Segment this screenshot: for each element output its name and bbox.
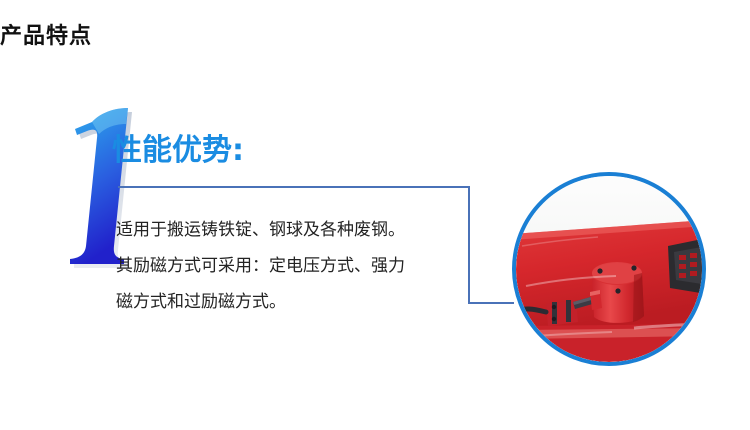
description-line: 其励磁方式可采用：定电压方式、强力 <box>116 248 476 284</box>
page-title: 产品特点 <box>0 22 92 52</box>
feature-description: 适用于搬运铸铁锭、钢球及各种废钢。 其励磁方式可采用：定电压方式、强力 磁方式和… <box>116 212 476 320</box>
feature-heading: 性能优势: <box>112 130 244 172</box>
product-photo-icon <box>512 172 706 366</box>
description-line: 磁方式和过励磁方式。 <box>116 284 476 320</box>
heading-underline-rule <box>118 186 470 188</box>
description-line: 适用于搬运铸铁锭、钢球及各种废钢。 <box>116 212 476 248</box>
product-feature-slide: 产品特点 <box>0 0 750 430</box>
